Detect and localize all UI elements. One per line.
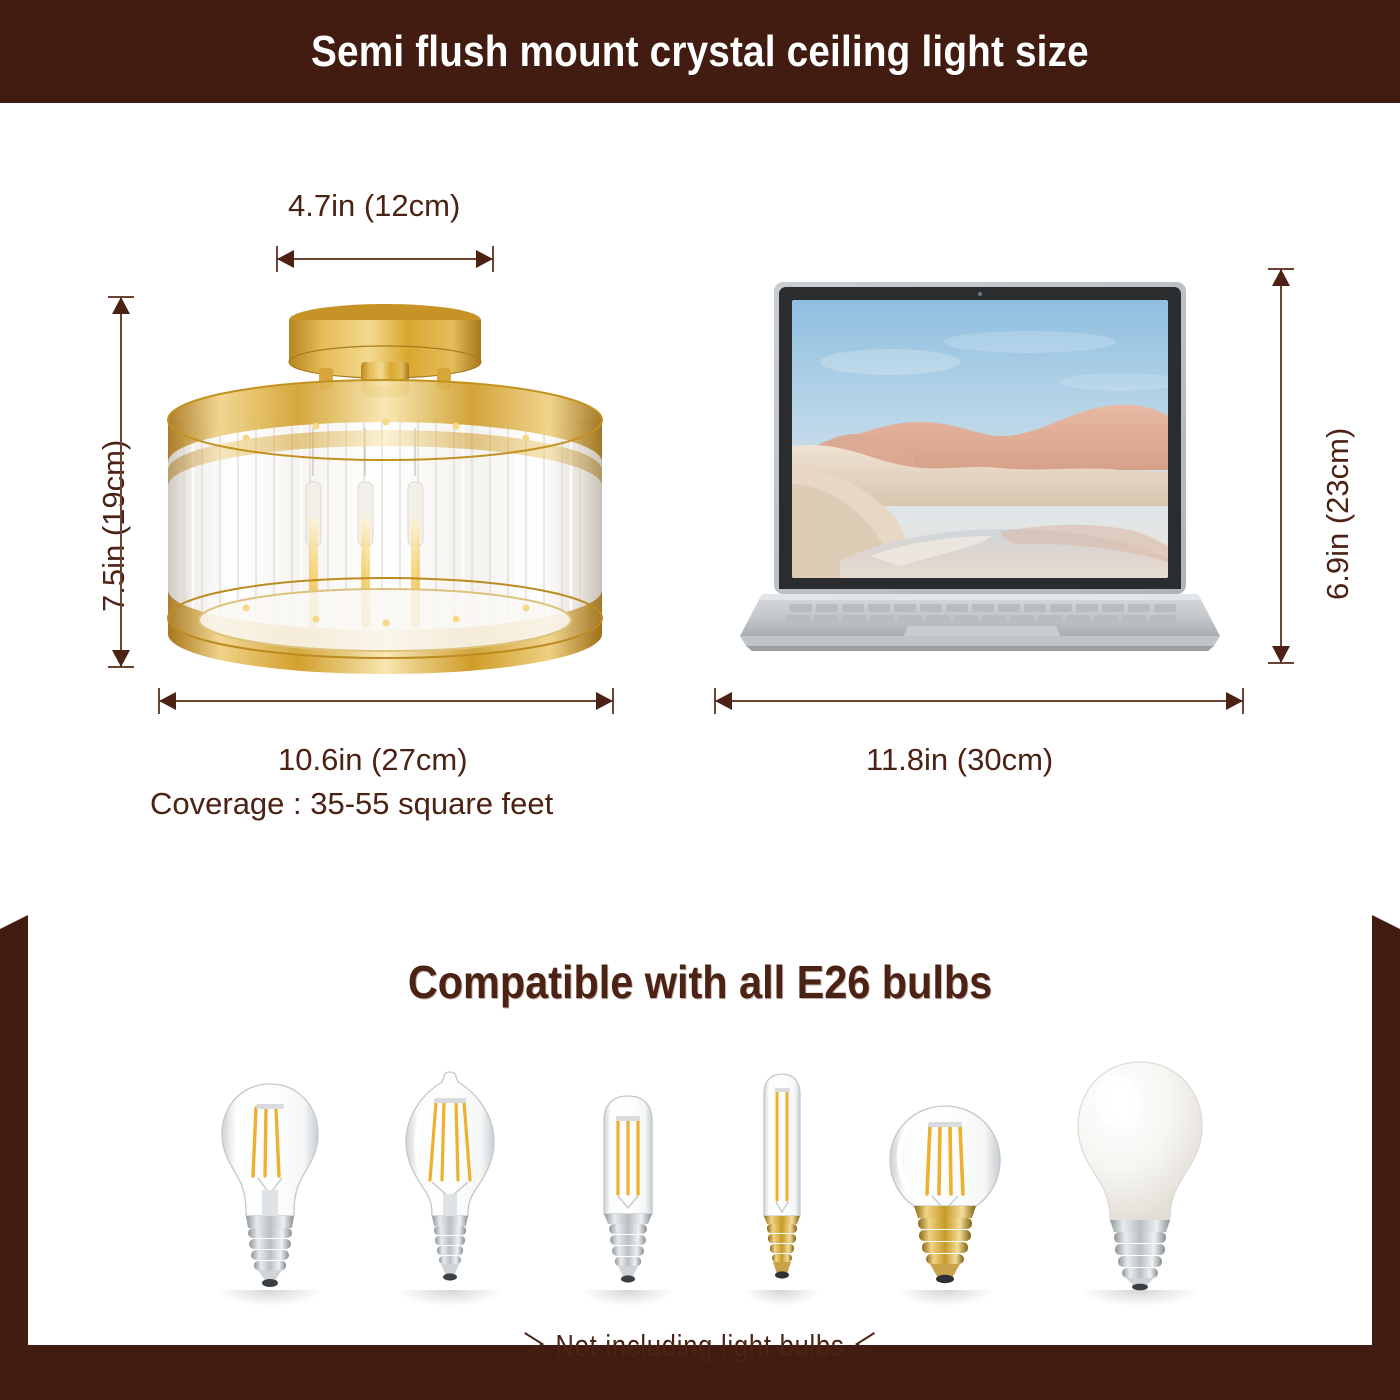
bulb-reflection: [897, 1290, 993, 1306]
fixture-width-label: 10.6in (27cm): [278, 742, 468, 778]
bulb-reflection: [1081, 1290, 1199, 1306]
product-size-infographic: Semi flush mount crystal ceiling light s…: [0, 0, 1400, 1400]
fixture-top-width-label: 4.7in (12cm): [288, 188, 460, 224]
bulb-reflection: [398, 1290, 502, 1306]
bulb-section-title: Compatible with all E26 bulbs: [70, 955, 1330, 1009]
bulb-reflection: [584, 1290, 673, 1306]
laptop-width-label: 11.8in (30cm): [866, 742, 1053, 778]
fixture-coverage-label: Coverage : 35-55 square feet: [150, 786, 553, 822]
fixture-height-arrow: [108, 296, 134, 668]
compatible-bulb-row: [180, 1055, 1220, 1290]
bulb-st64-edison-filament: [380, 1068, 520, 1290]
laptop-width-arrow: [714, 688, 1244, 714]
ceiling-light-image: [150, 290, 620, 680]
header-band: Semi flush mount crystal ceiling light s…: [0, 0, 1400, 103]
bulb-reflection: [745, 1290, 819, 1306]
laptop-height-label: 6.9in (23cm): [1320, 428, 1356, 600]
laptop-illustration: [700, 270, 1260, 660]
bulb-t10-long-tube-filament: [732, 1068, 832, 1290]
ceiling-light-illustration: [150, 290, 620, 680]
fixture-top-width-arrow: [276, 246, 494, 272]
laptop-image: [700, 270, 1260, 660]
bulb-a19-clear-filament: [200, 1078, 340, 1290]
panel-frame-left: [0, 915, 28, 1345]
laptop-height-arrow: [1268, 268, 1294, 664]
page-title: Semi flush mount crystal ceiling light s…: [311, 27, 1089, 77]
bulb-g45-globe-filament: [880, 1100, 1010, 1290]
bulb-t45-tube-filament: [568, 1090, 688, 1290]
bulb-a19-frosted: [1060, 1058, 1220, 1290]
fixture-width-arrow: [158, 688, 614, 714]
not-including-bulbs-note: ＞ Not including light bulbs ＜: [126, 1320, 1274, 1365]
bulb-reflection: [218, 1290, 322, 1306]
panel-frame-right: [1372, 915, 1400, 1345]
